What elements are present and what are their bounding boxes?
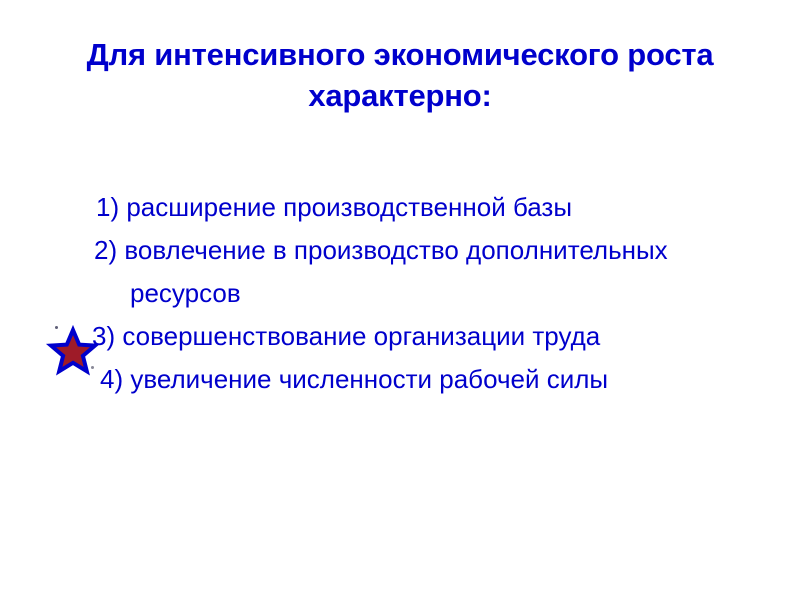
star-icon [50, 328, 96, 372]
answer-option-list: 1) расширение производственной базы 2) в… [92, 186, 772, 401]
answer-option-3-text: 3) совершенствование организации труда [92, 315, 772, 358]
page-title: Для интенсивного экономического роста ха… [50, 34, 750, 116]
page-title-line-2: характерно: [50, 75, 750, 116]
answer-option-1-text: 1) расширение производственной базы [96, 186, 772, 229]
scan-artifact-dot-secondary [91, 366, 94, 369]
page-title-line-1: Для интенсивного экономического роста [50, 34, 750, 75]
scan-artifact-dot [55, 326, 58, 329]
answer-option-1: 1) расширение производственной базы [96, 186, 772, 229]
answer-option-4: 4) увеличение численности рабочей силы [100, 358, 772, 401]
answer-option-2-text: 2) вовлечение в производство дополнитель… [94, 229, 772, 272]
answer-option-2-text-wrapped: ресурсов [94, 272, 772, 315]
answer-option-4-text: 4) увеличение численности рабочей силы [100, 358, 772, 401]
answer-option-2: 2) вовлечение в производство дополнитель… [94, 229, 772, 315]
answer-option-3: 3) совершенствование организации труда [92, 315, 772, 358]
slide-canvas: Для интенсивного экономического роста ха… [0, 0, 800, 600]
